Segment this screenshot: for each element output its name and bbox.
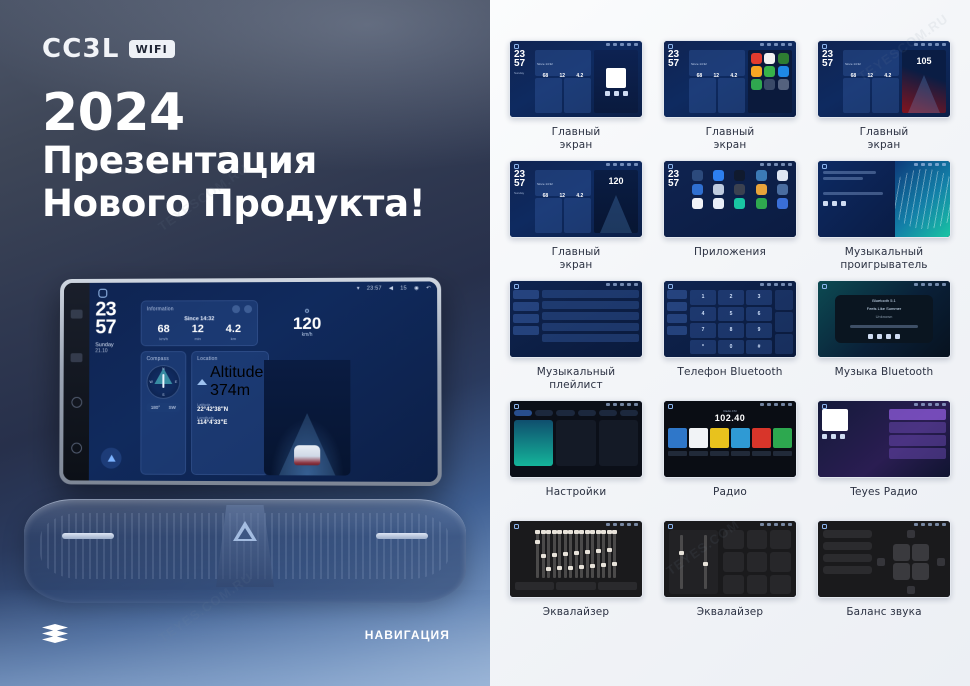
eq-fader-pair[interactable] bbox=[669, 530, 718, 594]
play-pause-icon[interactable] bbox=[877, 334, 882, 339]
preset-6[interactable] bbox=[773, 428, 792, 448]
settings-icon[interactable] bbox=[773, 451, 792, 456]
compass-readout: 180° SW bbox=[146, 403, 180, 412]
playlist-rows[interactable] bbox=[542, 290, 639, 354]
app-icon-maps[interactable] bbox=[713, 198, 724, 209]
home-icon[interactable] bbox=[668, 404, 673, 409]
progress-bar[interactable] bbox=[823, 192, 883, 195]
volume-icon bbox=[774, 163, 778, 166]
gallery-item[interactable]: 23 57 Sunday Since 14:32 68124.2 120 bbox=[504, 160, 648, 280]
volume-icon bbox=[620, 523, 624, 526]
dial-key[interactable]: 2 bbox=[718, 290, 744, 305]
speaker-fl[interactable] bbox=[893, 544, 910, 561]
eq-preset-grid[interactable] bbox=[723, 530, 791, 594]
playlist-sidebar[interactable] bbox=[513, 290, 539, 354]
dialpad[interactable]: 123 456 789 *0# bbox=[690, 290, 772, 354]
caption-line-2: экран bbox=[560, 139, 593, 151]
app-icon-play-store[interactable] bbox=[756, 198, 767, 209]
dial-actions[interactable] bbox=[775, 290, 793, 354]
preset-button[interactable] bbox=[770, 552, 791, 571]
album-art bbox=[822, 409, 848, 431]
side-button-2[interactable] bbox=[71, 353, 83, 362]
preset-button[interactable] bbox=[747, 575, 768, 594]
band-button[interactable] bbox=[668, 451, 687, 456]
eq-slider[interactable] bbox=[586, 530, 589, 578]
backspace-icon[interactable] bbox=[775, 312, 793, 332]
preset-2[interactable] bbox=[689, 428, 708, 448]
mini-day: Sunday bbox=[514, 71, 532, 75]
app-icon-browser[interactable] bbox=[764, 53, 775, 64]
fader[interactable] bbox=[680, 535, 683, 589]
gallery-item[interactable]: Музыкальныйпроигрыватель bbox=[812, 160, 956, 280]
app-icon-usb[interactable] bbox=[692, 170, 703, 181]
app-icon-gallery[interactable] bbox=[777, 184, 788, 195]
option-row[interactable] bbox=[823, 566, 872, 574]
eq-slider[interactable] bbox=[613, 530, 616, 578]
eq-sliders[interactable] bbox=[515, 530, 637, 578]
next-icon[interactable] bbox=[623, 91, 628, 96]
gallery-item[interactable]: Bluetooth 5.1 Feels Like Summer Unknown … bbox=[812, 280, 956, 400]
app-icon-maps[interactable] bbox=[778, 53, 789, 64]
play-pause-icon[interactable] bbox=[832, 201, 837, 206]
mini-clock-min: 57 bbox=[822, 59, 840, 68]
preset-3[interactable] bbox=[710, 428, 729, 448]
caption-line-1: Приложения bbox=[694, 246, 766, 258]
volume-icon bbox=[620, 163, 624, 166]
balance-pad[interactable] bbox=[877, 530, 945, 594]
thumbnail-apps[interactable]: 23 57 bbox=[663, 160, 797, 238]
radio-toolbar[interactable] bbox=[668, 451, 792, 456]
side-button-1[interactable] bbox=[71, 310, 83, 319]
eq-slider[interactable] bbox=[575, 530, 578, 578]
clock-icon bbox=[613, 163, 617, 166]
thumbnail-bluetooth-phone[interactable]: 123 456 789 *0# bbox=[663, 280, 797, 358]
preset-button[interactable] bbox=[723, 575, 744, 594]
preset-5[interactable] bbox=[752, 428, 771, 448]
home-icon[interactable] bbox=[514, 524, 519, 529]
home-icon[interactable] bbox=[668, 164, 673, 169]
information-widget[interactable]: Information Since 14:32 68 km/h bbox=[141, 300, 258, 346]
eq-slider[interactable] bbox=[569, 530, 572, 578]
eq-slider-thumb[interactable] bbox=[546, 567, 551, 571]
right-button[interactable] bbox=[937, 558, 945, 566]
gear-icon bbox=[935, 283, 939, 286]
preset-button[interactable] bbox=[770, 575, 791, 594]
prev-icon[interactable] bbox=[868, 334, 873, 339]
mini-since: Since 14:32 bbox=[537, 182, 553, 186]
caption: Эквалайзер bbox=[543, 606, 609, 640]
volume-icon bbox=[774, 283, 778, 286]
preset-button[interactable] bbox=[723, 530, 744, 549]
presentation-slide: CC3L WIFI 2024 Презентация Нового Продук… bbox=[0, 0, 970, 686]
speed-value: 120 bbox=[264, 315, 350, 332]
app-icon-mail[interactable] bbox=[778, 66, 789, 77]
layer-top bbox=[42, 624, 68, 631]
speaker-rr[interactable] bbox=[912, 563, 929, 580]
eq-slider[interactable] bbox=[542, 530, 545, 578]
caption-line-1: Эквалайзер bbox=[697, 606, 763, 618]
favorite-icon[interactable] bbox=[775, 290, 793, 310]
eq-slider[interactable] bbox=[553, 530, 556, 578]
wifi-icon bbox=[914, 283, 918, 286]
preset-button[interactable] bbox=[723, 552, 744, 571]
tab-balance[interactable] bbox=[556, 582, 595, 590]
expand-icon[interactable] bbox=[244, 305, 252, 313]
gear-icon bbox=[935, 403, 939, 406]
head-unit-screen[interactable]: ▾ 23:57 ◀ 15 ◉ ↶ 23 57 Sunday 21.10 bbox=[89, 281, 438, 482]
latitude-value: 22°42'38"N bbox=[197, 407, 263, 413]
track-row[interactable] bbox=[542, 301, 639, 309]
home-icon[interactable] bbox=[822, 524, 827, 529]
dial-key[interactable]: 1 bbox=[690, 290, 716, 305]
thumbnail-bluetooth-music[interactable]: Bluetooth 5.1 Feels Like Summer Unknown bbox=[817, 280, 951, 358]
progress-bar[interactable] bbox=[850, 325, 918, 328]
settings-cards[interactable] bbox=[514, 420, 638, 466]
app-grid[interactable] bbox=[688, 170, 792, 233]
gallery-item[interactable]: Teyes Радио bbox=[812, 400, 956, 520]
gallery-item[interactable]: Эквалайзер bbox=[504, 520, 648, 640]
eq-slider-thumb[interactable] bbox=[590, 564, 595, 568]
thumbnail-equalizer-presets[interactable] bbox=[663, 520, 797, 598]
app-icon-youtube[interactable] bbox=[751, 53, 762, 64]
navigation-arrow-icon[interactable] bbox=[101, 448, 122, 469]
card-wifi[interactable] bbox=[514, 420, 553, 466]
home-icon[interactable] bbox=[514, 404, 519, 409]
dial-key[interactable]: # bbox=[746, 340, 772, 355]
eq-slider-thumb[interactable] bbox=[579, 565, 584, 569]
home-icon[interactable] bbox=[822, 164, 827, 169]
compass-title: Compass bbox=[147, 356, 181, 362]
gallery-item[interactable]: 123 456 789 *0# Телефон Bluetooth bbox=[658, 280, 802, 400]
preset-button[interactable] bbox=[747, 530, 768, 549]
home-icon[interactable] bbox=[514, 164, 519, 169]
eq-slider[interactable] bbox=[608, 530, 611, 578]
speaker-rl[interactable] bbox=[893, 563, 910, 580]
sidebar-item-search[interactable] bbox=[667, 314, 687, 323]
widget-action-icons[interactable] bbox=[232, 305, 252, 313]
eq-slider-thumb[interactable] bbox=[557, 566, 562, 570]
list-icon[interactable] bbox=[710, 451, 729, 456]
next-icon[interactable] bbox=[840, 434, 845, 439]
eq-slider-thumb[interactable] bbox=[574, 551, 579, 555]
preset-button[interactable] bbox=[770, 530, 791, 549]
teyes-station-list[interactable] bbox=[889, 409, 946, 474]
app-icon-calculator[interactable] bbox=[756, 170, 767, 181]
radio-presets[interactable] bbox=[668, 428, 792, 448]
option-row[interactable] bbox=[823, 542, 872, 550]
dial-key[interactable]: 3 bbox=[746, 290, 772, 305]
power-icon[interactable] bbox=[752, 451, 771, 456]
gallery-item[interactable]: 23 57 Since 14:32 68124.2 bbox=[658, 40, 802, 160]
fader[interactable] bbox=[704, 535, 707, 589]
eq-slider[interactable] bbox=[602, 530, 605, 578]
eq-slider-thumb[interactable] bbox=[612, 562, 617, 566]
app-icon-music-player[interactable] bbox=[734, 198, 745, 209]
speaker-grid[interactable] bbox=[893, 544, 929, 580]
caption: Эквалайзер bbox=[697, 606, 763, 640]
back-icon bbox=[788, 283, 792, 286]
tab-eq[interactable] bbox=[515, 582, 554, 590]
dial-key[interactable]: 4 bbox=[690, 307, 716, 322]
home-icon[interactable] bbox=[514, 284, 519, 289]
next-icon[interactable] bbox=[895, 334, 900, 339]
gallery-item[interactable]: Radio FM 102.40 bbox=[658, 400, 802, 520]
preset-1[interactable] bbox=[668, 428, 687, 448]
wifi-icon bbox=[760, 283, 764, 286]
sidebar-item[interactable] bbox=[513, 302, 539, 311]
thumbnail-home-media[interactable]: 23 57 Sunday Since 14:32 68124.2 bbox=[509, 40, 643, 118]
volume-icon bbox=[774, 43, 778, 46]
back-icon bbox=[942, 283, 946, 286]
app-icon-play[interactable] bbox=[751, 79, 762, 90]
mini-compass bbox=[843, 78, 870, 113]
phone-sidebar[interactable] bbox=[667, 290, 687, 354]
track-row[interactable] bbox=[542, 312, 639, 320]
compass-west: W bbox=[149, 380, 152, 384]
eq-slider[interactable] bbox=[536, 530, 539, 578]
eq-tabs[interactable] bbox=[515, 582, 637, 590]
left-button[interactable] bbox=[877, 558, 885, 566]
thumbnail-home-road-red[interactable]: 23 57 Since 14:32 68124.2 105 bbox=[817, 40, 951, 118]
station-row[interactable] bbox=[889, 422, 946, 433]
eq-slider[interactable] bbox=[591, 530, 594, 578]
eq-slider-thumb[interactable] bbox=[541, 554, 546, 558]
caption-line-1: Главный bbox=[860, 126, 909, 138]
layer-bottom bbox=[42, 636, 68, 643]
mini-clock-min: 57 bbox=[668, 59, 686, 68]
station-row[interactable] bbox=[889, 409, 946, 420]
clock-icon bbox=[613, 283, 617, 286]
app-icon-radio[interactable] bbox=[777, 198, 788, 209]
visualizer bbox=[895, 161, 950, 237]
player-track-list[interactable] bbox=[818, 161, 895, 237]
gear-icon bbox=[781, 403, 785, 406]
stop-icon[interactable] bbox=[886, 334, 891, 339]
track-row[interactable] bbox=[823, 177, 863, 180]
preset-button[interactable] bbox=[747, 552, 768, 571]
stop-icon[interactable] bbox=[831, 434, 836, 439]
stat-speed: 68 km/h bbox=[158, 324, 170, 341]
dial-key[interactable]: 0 bbox=[718, 340, 744, 355]
wifi-badge: WIFI bbox=[129, 40, 175, 58]
mini-speed-value: 120 bbox=[594, 176, 638, 186]
gallery-item[interactable]: 23 57 bbox=[658, 160, 802, 280]
volume-icon bbox=[928, 283, 932, 286]
home-icon[interactable] bbox=[822, 284, 827, 289]
eq-slider-thumb[interactable] bbox=[568, 566, 573, 570]
eq-slider-thumb[interactable] bbox=[552, 553, 557, 557]
home-icon[interactable] bbox=[98, 289, 107, 298]
dial-key[interactable]: 6 bbox=[746, 307, 772, 322]
eq-icon[interactable] bbox=[731, 451, 750, 456]
clock-icon bbox=[767, 403, 771, 406]
caption: Музыкальныйпроигрыватель bbox=[840, 246, 927, 280]
tab-wifi[interactable] bbox=[514, 410, 532, 416]
wifi-icon bbox=[760, 43, 764, 46]
app-icon-music[interactable] bbox=[751, 66, 762, 77]
eq-slider[interactable] bbox=[597, 530, 600, 578]
tab-more[interactable] bbox=[620, 410, 638, 416]
app-icon-phone[interactable] bbox=[764, 66, 775, 77]
eq-slider-thumb[interactable] bbox=[601, 563, 606, 567]
tab-about[interactable] bbox=[599, 410, 617, 416]
sidebar-item[interactable] bbox=[513, 314, 539, 323]
tab-system[interactable] bbox=[578, 410, 596, 416]
eq-slider-thumb[interactable] bbox=[535, 540, 540, 544]
station-row[interactable] bbox=[889, 435, 946, 446]
prev-icon[interactable] bbox=[823, 201, 828, 206]
mini-compass bbox=[535, 78, 562, 113]
location-widget[interactable]: Location Altitude 374m bbox=[191, 351, 269, 475]
call-icon[interactable] bbox=[775, 334, 793, 354]
home-icon[interactable] bbox=[514, 44, 519, 49]
rear-button[interactable] bbox=[907, 586, 915, 594]
thumbnail-home-road[interactable]: 23 57 Sunday Since 14:32 68124.2 120 bbox=[509, 160, 643, 238]
gallery-item[interactable]: Баланс звука bbox=[812, 520, 956, 640]
back-icon bbox=[788, 523, 792, 526]
eq-slider-thumb[interactable] bbox=[563, 552, 568, 556]
gear-icon[interactable]: ◉ bbox=[414, 285, 419, 291]
headline-line-1: Презентация bbox=[42, 140, 425, 183]
home-icon[interactable] bbox=[822, 44, 827, 49]
wifi-icon: ▾ bbox=[357, 286, 360, 292]
card-hotspot[interactable] bbox=[556, 420, 595, 466]
preset-4[interactable] bbox=[731, 428, 750, 448]
thumbnail-music-player[interactable] bbox=[817, 160, 951, 238]
speed-unit: km/h bbox=[264, 332, 350, 338]
track-row[interactable] bbox=[542, 323, 639, 331]
eq-slider-thumb[interactable] bbox=[607, 548, 612, 552]
information-stats: 68 km/h 12 min 4.2 km bbox=[147, 324, 252, 341]
thumbnail-teyes-radio[interactable] bbox=[817, 400, 951, 478]
caption: Приложения bbox=[694, 246, 766, 280]
wifi-icon bbox=[760, 403, 764, 406]
longitude-value: 114°4'33"E bbox=[197, 420, 263, 426]
eq-slider[interactable] bbox=[547, 530, 550, 578]
app-icon-clock[interactable] bbox=[713, 184, 724, 195]
dial-key[interactable]: 7 bbox=[690, 323, 716, 338]
eq-slider-thumb[interactable] bbox=[585, 550, 590, 554]
caption-line-2: экран bbox=[714, 139, 747, 151]
tab-sound[interactable] bbox=[535, 410, 553, 416]
clock-widget: 23 57 Sunday 21.10 bbox=[95, 301, 135, 475]
option-row[interactable] bbox=[823, 554, 872, 562]
compass-dial: N S W E bbox=[146, 365, 180, 399]
caption-line-1: Музыкальный bbox=[845, 246, 923, 258]
thumbnail-settings[interactable] bbox=[509, 400, 643, 478]
speed-navigation-widget[interactable]: ⚙ 120 km/h bbox=[264, 300, 351, 476]
thumbnail-sound-balance[interactable] bbox=[817, 520, 951, 598]
home-icon[interactable] bbox=[668, 44, 673, 49]
dial-key[interactable]: 5 bbox=[718, 307, 744, 322]
prev-icon[interactable] bbox=[822, 434, 827, 439]
fader-thumb[interactable] bbox=[679, 551, 684, 555]
head-unit-side-buttons[interactable] bbox=[63, 283, 89, 481]
back-icon bbox=[788, 163, 792, 166]
gallery-item[interactable]: 23 57 Sunday Since 14:32 68124.2 bbox=[504, 40, 648, 160]
sidebar-item-contacts[interactable] bbox=[667, 302, 687, 311]
app-icon-bluetooth[interactable] bbox=[713, 170, 724, 181]
option-row[interactable] bbox=[823, 530, 872, 538]
eq-slider[interactable] bbox=[580, 530, 583, 578]
card-more[interactable] bbox=[599, 420, 638, 466]
prev-icon[interactable] bbox=[605, 91, 610, 96]
home-icon[interactable] bbox=[668, 284, 673, 289]
app-icon-keyboard[interactable] bbox=[734, 170, 745, 181]
app-icon-filemanager[interactable] bbox=[756, 184, 767, 195]
app-icon-chrome[interactable] bbox=[692, 184, 703, 195]
next-icon[interactable] bbox=[841, 201, 846, 206]
app-icon-equalizer[interactable] bbox=[734, 184, 745, 195]
app-icon-settings[interactable] bbox=[764, 79, 775, 90]
tab-effects[interactable] bbox=[598, 582, 637, 590]
app-icon-grid[interactable] bbox=[778, 79, 789, 90]
thumbnail-radio[interactable]: Radio FM 102.40 bbox=[663, 400, 797, 478]
mini-compass bbox=[689, 78, 716, 113]
fader-thumb[interactable] bbox=[703, 562, 708, 566]
gallery-item[interactable]: Настройки bbox=[504, 400, 648, 520]
home-icon[interactable] bbox=[668, 524, 673, 529]
front-button[interactable] bbox=[907, 530, 915, 538]
home-icon[interactable] bbox=[822, 404, 827, 409]
home-button[interactable] bbox=[71, 442, 82, 453]
car-dashboard bbox=[0, 471, 490, 686]
thumbnail-equalizer[interactable] bbox=[509, 520, 643, 598]
mountain-icon bbox=[197, 379, 207, 385]
station-row[interactable] bbox=[889, 448, 946, 459]
caption-line-1: Эквалайзер bbox=[543, 606, 609, 618]
mini-since: Since 14:32 bbox=[691, 62, 707, 66]
tab-display[interactable] bbox=[556, 410, 574, 416]
gallery-item[interactable]: 23 57 Since 14:32 68124.2 105 bbox=[812, 40, 956, 160]
wifi-icon bbox=[760, 523, 764, 526]
track-row[interactable] bbox=[542, 334, 639, 342]
thumbnail-playlist[interactable] bbox=[509, 280, 643, 358]
album-art bbox=[606, 68, 626, 88]
sidebar-item[interactable] bbox=[513, 290, 539, 299]
balance-options[interactable] bbox=[823, 530, 872, 594]
clock-icon bbox=[921, 283, 925, 286]
play-icon[interactable] bbox=[614, 91, 619, 96]
hazard-triangle-icon[interactable] bbox=[233, 521, 257, 541]
search-icon[interactable] bbox=[689, 451, 708, 456]
gallery-item[interactable]: Музыкальныйплейлист bbox=[504, 280, 648, 400]
sidebar-item-recents[interactable] bbox=[667, 326, 687, 335]
track-row[interactable] bbox=[542, 290, 639, 298]
eq-slider-thumb[interactable] bbox=[596, 549, 601, 553]
dial-key[interactable]: 9 bbox=[746, 323, 772, 338]
track-row[interactable] bbox=[823, 171, 876, 174]
eq-slider[interactable] bbox=[558, 530, 561, 578]
mini-location bbox=[718, 78, 745, 113]
app-icon-gmail[interactable] bbox=[692, 198, 703, 209]
app-icon-camera[interactable] bbox=[777, 170, 788, 181]
dial-key[interactable]: * bbox=[690, 340, 716, 355]
settings-tabs[interactable] bbox=[514, 410, 638, 416]
eq-slider[interactable] bbox=[564, 530, 567, 578]
back-arrow-icon[interactable]: ↶ bbox=[426, 285, 431, 291]
compass-widget[interactable]: Compass N S W E bbox=[140, 351, 186, 475]
speaker-fr[interactable] bbox=[912, 544, 929, 561]
thumbnail-home-apps[interactable]: 23 57 Since 14:32 68124.2 bbox=[663, 40, 797, 118]
dial-key[interactable]: 8 bbox=[718, 323, 744, 338]
sidebar-item-dialpad[interactable] bbox=[667, 290, 687, 299]
gallery-item[interactable]: Эквалайзер bbox=[658, 520, 802, 640]
power-button[interactable] bbox=[71, 397, 82, 408]
back-icon bbox=[942, 523, 946, 526]
sidebar-item[interactable] bbox=[513, 326, 539, 335]
refresh-icon[interactable] bbox=[232, 305, 240, 313]
